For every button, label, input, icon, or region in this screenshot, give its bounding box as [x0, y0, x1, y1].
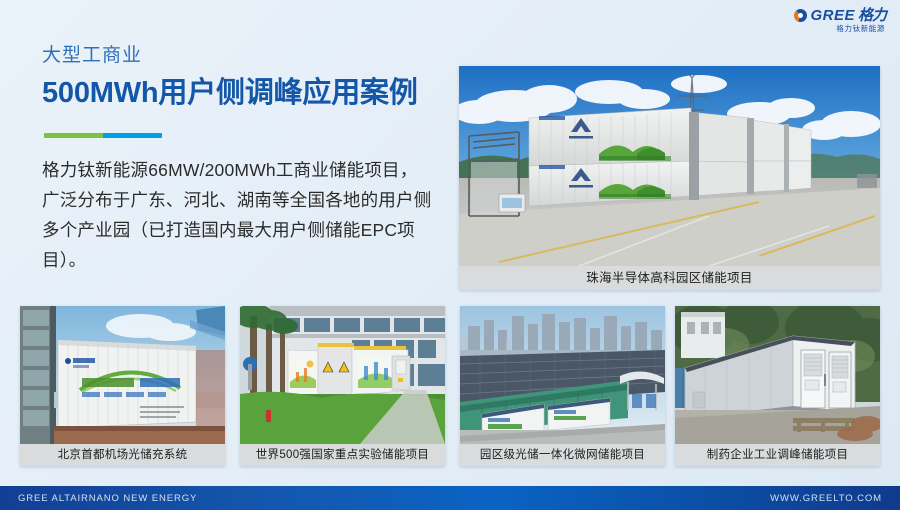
divider-green-segment	[44, 133, 103, 138]
divider-blue-segment	[103, 133, 162, 138]
slide-eyebrow: 大型工商业	[42, 40, 442, 67]
brand-logo: GREE 格力 格力钛新能源	[794, 8, 886, 33]
hero-photo-card[interactable]: 珠海半导体高科园区储能项目	[459, 66, 880, 290]
thumbnail-caption-4: 制药企业工业调峰储能项目	[675, 444, 880, 466]
thumbnail-photo-4	[675, 306, 880, 444]
footer-bar: GREE ALTAIRNANO NEW ENERGY WWW.GREELTO.C…	[0, 486, 900, 510]
accent-divider	[44, 133, 162, 138]
thumbnail-photo-3	[460, 306, 665, 444]
thumbnail-1-illustration	[20, 306, 225, 444]
thumbnail-card-4[interactable]: 制药企业工业调峰储能项目	[675, 306, 880, 466]
logo-wordmark: GREE	[810, 8, 855, 23]
hero-caption: 珠海半导体高科园区储能项目	[459, 266, 880, 290]
thumbnail-caption-1: 北京首都机场光储充系统	[20, 444, 225, 466]
logo-cn-wordmark: 格力	[858, 8, 886, 23]
thumbnail-card-3[interactable]: 园区级光储一体化微网储能项目	[460, 306, 665, 466]
gree-logo-icon	[794, 9, 807, 22]
slide-text-column: 大型工商业 500MWh用户侧调峰应用案例 格力钛新能源66MW/200MWh工…	[42, 40, 442, 275]
thumbnail-3-illustration	[460, 306, 665, 444]
logo-row: GREE 格力	[794, 8, 886, 23]
thumbnail-photo-2	[240, 306, 445, 444]
thumbnail-card-1[interactable]: 北京首都机场光储充系统	[20, 306, 225, 466]
thumbnail-2-illustration	[240, 306, 445, 444]
logo-subtitle: 格力钛新能源	[836, 25, 885, 33]
footer-website-url[interactable]: WWW.GREELTO.COM	[770, 493, 882, 504]
thumbnail-caption-3: 园区级光储一体化微网储能项目	[460, 444, 665, 466]
thumbnail-4-illustration	[675, 306, 880, 444]
slide-body-text: 格力钛新能源66MW/200MWh工商业储能项目，广泛分布于广东、河北、湖南等全…	[42, 155, 434, 275]
footer-company-name: GREE ALTAIRNANO NEW ENERGY	[18, 493, 197, 504]
thumbnail-photo-1	[20, 306, 225, 444]
thumbnail-card-2[interactable]: 世界500强国家重点实验储能项目	[240, 306, 445, 466]
slide-headline: 500MWh用户侧调峰应用案例	[42, 69, 442, 111]
hero-photo-illustration	[459, 66, 880, 266]
thumbnail-caption-2: 世界500强国家重点实验储能项目	[240, 444, 445, 466]
hero-photo	[459, 66, 880, 266]
